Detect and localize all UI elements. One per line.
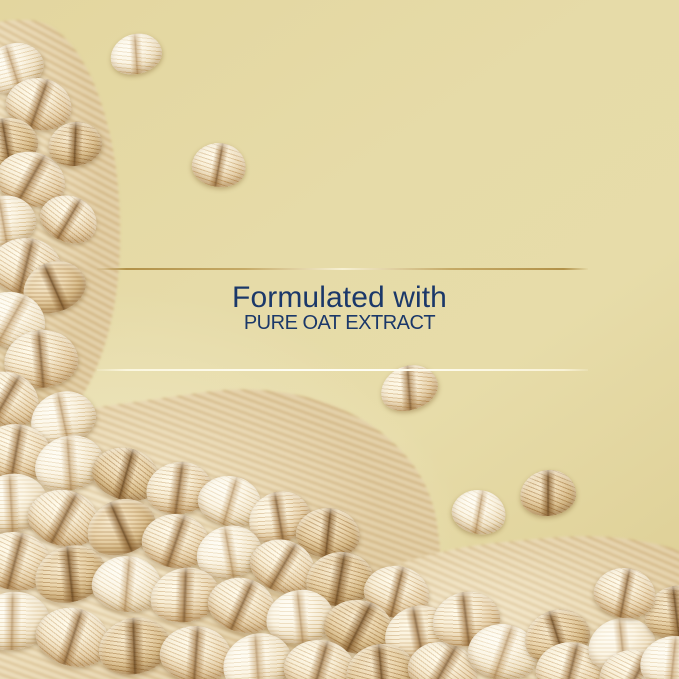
oat-flake [33, 186, 105, 252]
oat-flake [242, 484, 316, 551]
oat-flake [215, 625, 299, 679]
oat-flake [518, 467, 579, 519]
oat-flake [0, 525, 57, 596]
oat-flake [319, 593, 399, 661]
oat-flake [138, 509, 214, 573]
oat-flake [189, 139, 249, 190]
oat-flake [29, 428, 110, 497]
oat-flake [89, 552, 165, 616]
oat-flake [0, 469, 52, 538]
oat-flake [0, 362, 47, 436]
oat-flake [2, 73, 76, 136]
product-claim-banner: Formulated with PURE OAT EXTRACT [0, 0, 679, 679]
oat-flake [263, 587, 336, 648]
oat-flake [156, 621, 235, 679]
oat-flake [86, 439, 167, 509]
oat-flake [585, 614, 660, 677]
oat-flake [594, 642, 675, 679]
oat-flake [359, 559, 436, 625]
oat-flake [243, 530, 324, 603]
oat-flake [294, 505, 363, 561]
eyebrow-text: Formulated with [0, 283, 679, 313]
oat-flake [146, 562, 224, 627]
oat-flake [28, 537, 113, 611]
oat-flake [194, 470, 267, 532]
oat-flake [639, 579, 679, 644]
oat-flake [533, 638, 608, 679]
oat-flake [0, 588, 53, 655]
oat-flake [0, 114, 41, 172]
oat-flake [22, 482, 106, 555]
oat-flake [0, 190, 41, 255]
oat-flake [79, 490, 163, 565]
oat-flake [45, 118, 106, 171]
oat-flakes-imagery [0, 0, 679, 679]
oat-flake [191, 520, 266, 585]
oat-flake [590, 563, 660, 624]
oat-flake [0, 34, 51, 102]
oat-pile-backdrop-bottom [0, 363, 460, 679]
oat-flake [2, 327, 81, 391]
oat-flake [24, 384, 102, 452]
oat-flake [401, 633, 484, 679]
page-title: PURE OAT EXTRACT [0, 313, 679, 333]
oat-flake [427, 586, 504, 652]
oat-pile-backdrop-bottom-right [292, 520, 679, 679]
oat-pile-backdrop-left [0, 20, 120, 440]
oat-flake [375, 358, 444, 418]
gold-divider-line [97, 268, 588, 270]
oat-flake [344, 641, 419, 679]
oat-flake [143, 459, 214, 518]
oat-flake [93, 611, 175, 679]
cream-divider-line [97, 369, 588, 371]
oat-flake [29, 599, 116, 675]
oat-flake [280, 634, 361, 679]
oat-flake [448, 485, 510, 539]
oat-flake [464, 619, 542, 679]
oat-flake [201, 569, 282, 641]
oat-flake [0, 419, 56, 484]
oat-flake [518, 602, 596, 670]
oat-flake [106, 28, 166, 79]
oat-flake [304, 550, 376, 609]
oat-flake [378, 598, 458, 668]
oat-flake [0, 143, 72, 214]
oat-flake [638, 634, 679, 679]
